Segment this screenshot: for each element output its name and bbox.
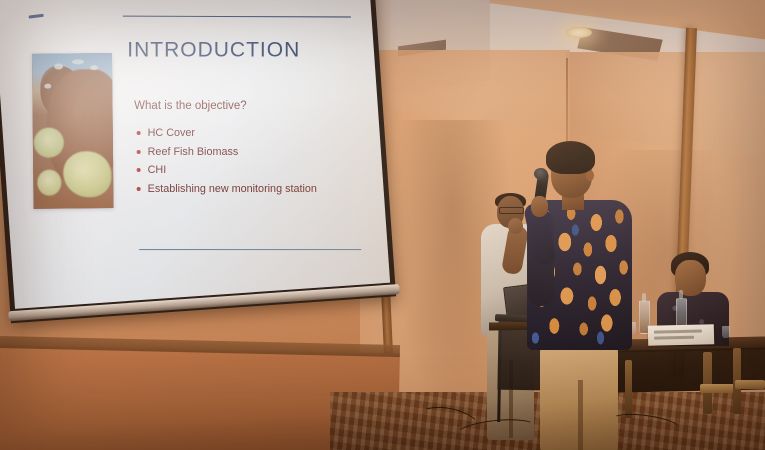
speaker-hair [546,141,595,174]
presentation-room-photo: INTRODUCTION What is the objective? HC C… [0,0,765,450]
wooden-chair-leg [625,360,632,418]
wooden-chair-seat [700,384,736,393]
bullet-label: HC Cover [148,127,195,139]
placard-text-line [654,336,694,340]
bullet-label: CHI [148,164,167,176]
coral-warm-tint [32,53,114,209]
coral-reef-image [32,53,114,209]
slide-question: What is the objective? [134,100,247,112]
projection-screen[interactable]: INTRODUCTION What is the objective? HC C… [0,0,396,323]
list-item: CHI [137,164,377,176]
slide-bullet-list: HC Cover Reef Fish Biomass CHI Establish… [137,127,377,201]
name-placard [648,324,714,346]
wooden-chair-back [703,352,712,414]
list-item: Reef Fish Biomass [137,145,377,157]
ceiling-downlight [566,27,592,38]
speaker-leg-gap [578,380,583,450]
slide-title-rule [123,16,351,18]
bullet-label: Establishing new monitoring station [148,182,317,194]
speaker-hand [531,196,548,217]
list-item: Establishing new monitoring station [137,182,377,194]
bullet-dot-icon [137,186,141,190]
slide-corner-mark [29,14,44,19]
slide-bottom-rule [139,249,361,250]
assistant-hand [508,218,523,234]
bullet-dot-icon [137,168,141,172]
water-bottle-neck [679,290,683,299]
drinking-glass [722,326,730,338]
bullet-label: Reef Fish Biomass [148,145,239,157]
slide-title: INTRODUCTION [127,38,300,62]
placard-text-line [654,329,702,333]
eyeglasses-icon [499,207,524,214]
list-item: HC Cover [137,127,377,139]
bullet-dot-icon [137,149,141,153]
water-bottle-neck [642,293,646,302]
wooden-chair-seat [735,380,765,389]
bullet-dot-icon [137,131,141,135]
presentation-slide: INTRODUCTION What is the objective? HC C… [0,0,390,309]
